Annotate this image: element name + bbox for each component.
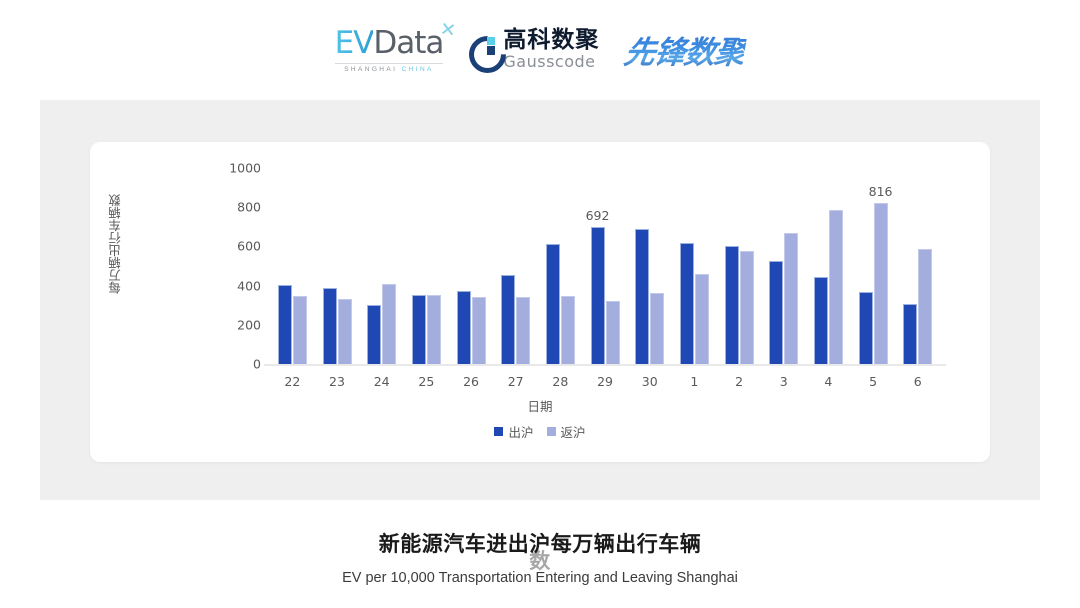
- legend-swatch-icon: [494, 427, 503, 436]
- logo-bar: EV Data ✕ SHANGHAI CHINA 高科数聚 Gausscode …: [0, 0, 1080, 98]
- bar-out-27[interactable]: [501, 275, 515, 364]
- bar-back-3[interactable]: [784, 233, 798, 364]
- y-axis-tick-400: 400: [237, 278, 270, 293]
- y-axis-tick-200: 200: [237, 317, 270, 332]
- bar-out-22[interactable]: [278, 285, 292, 364]
- y-axis-tick-800: 800: [237, 200, 270, 215]
- chart-legend: 出沪返沪: [90, 422, 990, 441]
- bar-back-22[interactable]: [293, 296, 307, 364]
- x-axis-tick-4: 4: [806, 374, 851, 389]
- x-axis-tick-30: 30: [627, 374, 672, 389]
- y-axis-title: 每万辆出行车辆数: [106, 194, 125, 294]
- bar-out-25[interactable]: [412, 295, 426, 364]
- bar-group: [895, 168, 940, 364]
- bar-group: [359, 168, 404, 364]
- gausscode-wordmark: 高科数聚 Gausscode: [503, 29, 599, 70]
- x-axis-tick-23: 23: [315, 374, 360, 389]
- x-axis-tick-25: 25: [404, 374, 449, 389]
- bar-group: [315, 168, 360, 364]
- bar-group: [761, 168, 806, 364]
- bar-value-label-5: 816: [869, 184, 893, 199]
- caption-title-en: EV per 10,000 Transportation Entering an…: [0, 570, 1080, 586]
- x-axis-tick-28: 28: [538, 374, 583, 389]
- bar-back-28[interactable]: [561, 296, 575, 364]
- xianfeng-logo: 先锋数聚: [622, 27, 749, 72]
- bar-out-30[interactable]: [635, 229, 649, 364]
- bar-group: [404, 168, 449, 364]
- chart-card: 每万辆出行车辆数 692816 10008006004002000 222324…: [90, 142, 990, 462]
- bar-group: 816: [851, 168, 896, 364]
- x-axis-tick-labels: 222324252627282930123456: [270, 374, 940, 389]
- evdata-subtitle: SHANGHAI CHINA: [335, 63, 444, 73]
- x-axis-tick-26: 26: [449, 374, 494, 389]
- x-axis-tick-24: 24: [359, 374, 404, 389]
- bar-group: [627, 168, 672, 364]
- bar-back-27[interactable]: [516, 297, 530, 364]
- bar-back-1[interactable]: [695, 274, 709, 364]
- bar-out-24[interactable]: [367, 305, 381, 364]
- evdata-subtitle-city: SHANGHAI: [344, 66, 397, 73]
- bar-out-28[interactable]: [546, 244, 560, 364]
- evdata-ev-text: EV: [335, 25, 374, 61]
- bar-out-26[interactable]: [457, 291, 471, 364]
- bar-back-4[interactable]: [829, 210, 843, 364]
- legend-label: 返沪: [561, 422, 586, 441]
- x-axis-tick-5: 5: [851, 374, 896, 389]
- gausscode-logo: 高科数聚 Gausscode: [469, 29, 599, 70]
- legend-swatch-icon: [547, 427, 556, 436]
- evdata-data-text: Data: [373, 25, 443, 61]
- caption-title-cn: 新能源汽车进出沪每万辆出行车辆 数: [0, 528, 1080, 558]
- bar-group: 692: [583, 168, 628, 364]
- plot-area: 692816 10008006004002000: [270, 168, 940, 364]
- bar-value-label-29: 692: [586, 208, 610, 223]
- bar-back-25[interactable]: [427, 295, 441, 364]
- x-axis-tick-29: 29: [583, 374, 628, 389]
- bar-group: [493, 168, 538, 364]
- x-axis-tick-1: 1: [672, 374, 717, 389]
- caption-title-cn-text: 新能源汽车进出沪每万辆出行车辆: [379, 532, 702, 556]
- bar-out-29[interactable]: 692: [591, 227, 605, 364]
- y-axis-tick-0: 0: [253, 357, 270, 372]
- bar-group: [270, 168, 315, 364]
- bar-group: [538, 168, 583, 364]
- legend-item-back[interactable]: 返沪: [547, 422, 586, 441]
- caption-block: 新能源汽车进出沪每万辆出行车辆 数 EV per 10,000 Transpor…: [0, 528, 1080, 586]
- bar-back-2[interactable]: [740, 251, 754, 364]
- bar-back-24[interactable]: [382, 284, 396, 364]
- evdata-logo: EV Data ✕ SHANGHAI CHINA: [335, 25, 444, 73]
- bar-groups: 692816: [270, 168, 940, 364]
- x-axis-tick-6: 6: [895, 374, 940, 389]
- x-axis-tick-27: 27: [493, 374, 538, 389]
- bar-group: [672, 168, 717, 364]
- evdata-wordmark: EV Data ✕: [335, 25, 444, 61]
- x-axis-tick-22: 22: [270, 374, 315, 389]
- bar-out-2[interactable]: [725, 246, 739, 364]
- bar-back-5[interactable]: 816: [874, 203, 888, 364]
- x-axis-title: 日期: [90, 396, 990, 415]
- bar-out-4[interactable]: [814, 277, 828, 364]
- gausscode-square-cyan-icon: [487, 37, 495, 45]
- evdata-subtitle-country: CHINA: [402, 66, 434, 73]
- chart-panel: 每万辆出行车辆数 692816 10008006004002000 222324…: [40, 100, 1040, 500]
- x-axis-tick-2: 2: [717, 374, 762, 389]
- bar-group: [717, 168, 762, 364]
- y-axis-tick-1000: 1000: [229, 161, 270, 176]
- bar-out-23[interactable]: [323, 288, 337, 364]
- bar-back-6[interactable]: [918, 249, 932, 364]
- bar-out-3[interactable]: [769, 261, 783, 364]
- gausscode-cn-text: 高科数聚: [503, 29, 599, 52]
- bar-back-26[interactable]: [472, 297, 486, 364]
- bar-group: [449, 168, 494, 364]
- legend-label: 出沪: [508, 422, 533, 441]
- bar-group: [806, 168, 851, 364]
- bar-out-5[interactable]: [859, 292, 873, 364]
- legend-item-out[interactable]: 出沪: [494, 422, 533, 441]
- bar-back-23[interactable]: [338, 299, 352, 364]
- gausscode-en-text: Gausscode: [503, 54, 599, 70]
- x-axis-line: [264, 364, 946, 366]
- bar-chart: 每万辆出行车辆数 692816 10008006004002000 222324…: [90, 142, 990, 462]
- bar-out-1[interactable]: [680, 243, 694, 364]
- bar-back-29[interactable]: [606, 301, 620, 364]
- x-axis-tick-3: 3: [761, 374, 806, 389]
- bar-back-30[interactable]: [650, 293, 664, 364]
- gausscode-mark-icon: [469, 36, 496, 63]
- bar-out-6[interactable]: [903, 304, 917, 364]
- gausscode-square-navy-icon: [487, 46, 495, 55]
- cross-icon: ✕: [439, 18, 458, 43]
- y-axis-tick-600: 600: [237, 239, 270, 254]
